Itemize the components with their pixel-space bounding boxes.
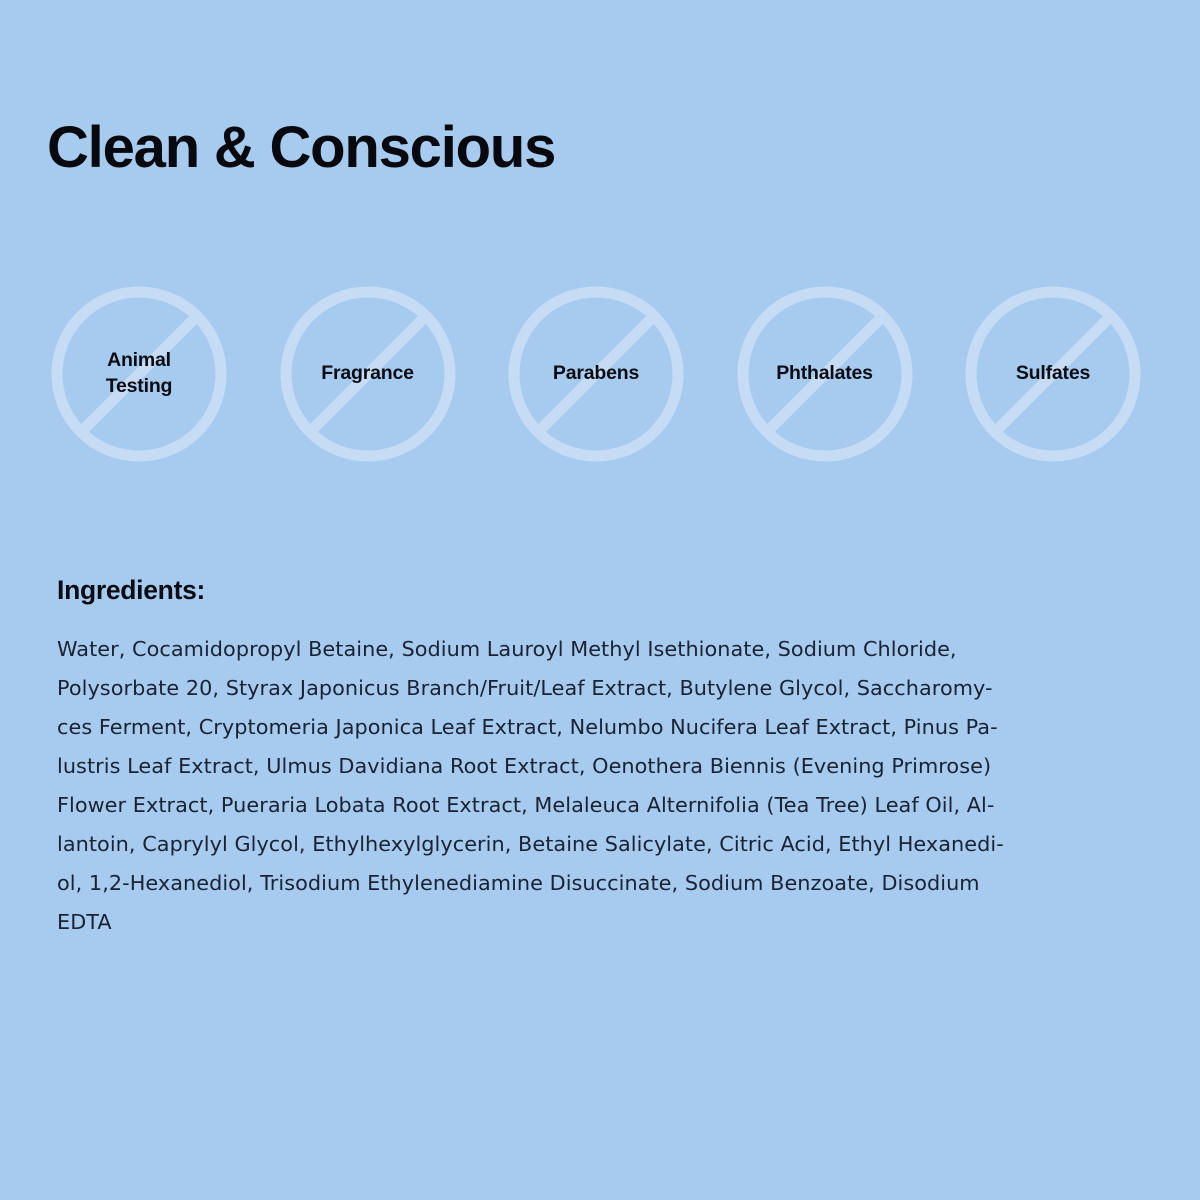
badge-animal-testing: Animal Testing [48, 283, 230, 465]
ingredients-heading: Ingredients: [57, 575, 1143, 606]
clean-conscious-panel: Clean & Conscious Animal Testing Fragran… [0, 0, 1200, 1200]
badge-label: Parabens [505, 361, 687, 387]
page-title: Clean & Conscious [47, 116, 555, 181]
badge-phthalates: Phthalates [734, 283, 916, 465]
free-from-badge-row: Animal Testing Fragrance Parabens [48, 283, 1144, 465]
badge-sulfates: Sulfates [962, 283, 1144, 465]
ingredients-section: Ingredients: Water, Cocamidopropyl Betai… [57, 575, 1143, 942]
badge-label: Fragrance [277, 361, 459, 387]
badge-label: Sulfates [962, 361, 1144, 387]
badge-fragrance: Fragrance [277, 283, 459, 465]
ingredients-list-text: Water, Cocamidopropyl Betaine, Sodium La… [57, 630, 1143, 942]
badge-label: Phthalates [734, 361, 916, 387]
badge-parabens: Parabens [505, 283, 687, 465]
badge-label: Animal Testing [48, 348, 230, 400]
